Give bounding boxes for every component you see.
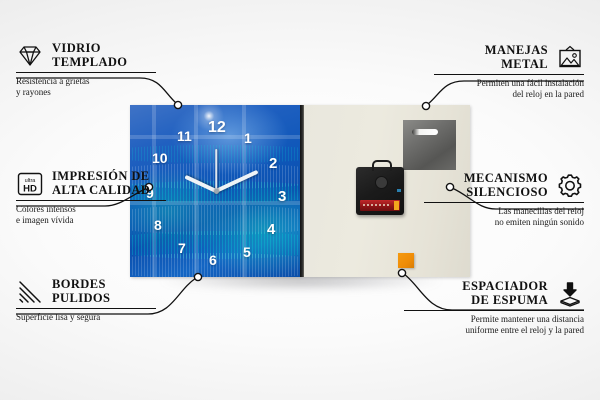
aa-battery: [360, 200, 400, 211]
foam-spacer-square: [398, 253, 414, 268]
clock-numeral: 6: [209, 253, 217, 267]
clock-numeral: 5: [243, 245, 251, 259]
clock-numeral: 7: [178, 241, 186, 255]
callout-title: ESPACIADOR DE ESPUMA: [462, 280, 548, 307]
callout-rule: [434, 74, 584, 75]
diagonal-lines-icon: [16, 279, 44, 305]
callout-rule: [16, 72, 156, 73]
callout-description: Permite mantener una distancia uniforme …: [404, 314, 584, 336]
callout-title: MANEJAS METAL: [485, 44, 548, 71]
callout-header: ultra HD IMPRESIÓN DE ALTA CALIDAD: [16, 170, 176, 197]
callout-vidrio-templado[interactable]: VIDRIO TEMPLADO Resistencia a grietas y …: [16, 42, 166, 98]
clock-center-cap: [214, 189, 219, 194]
callout-title: VIDRIO TEMPLADO: [52, 42, 127, 69]
mechanism-hook-icon: [372, 160, 392, 171]
callout-impresion-alta-calidad[interactable]: ultra HD IMPRESIÓN DE ALTA CALIDAD Color…: [16, 170, 176, 226]
callout-description: Colores intensos e imagen vívida: [16, 204, 176, 226]
callout-description: Resistencia a grietas y rayones: [16, 76, 166, 98]
infographic-canvas: 12 1 2 3 4 5 6 7 8 9 10 11: [0, 0, 600, 400]
mechanism-shaft: [375, 176, 388, 189]
callout-header: BORDES PULIDOS: [16, 278, 166, 305]
clock-numeral: 10: [152, 151, 168, 165]
clock-numeral: 12: [208, 121, 226, 135]
callout-title: BORDES PULIDOS: [52, 278, 110, 305]
diamond-icon: [16, 44, 44, 68]
callout-manejas-metal[interactable]: MANEJAS METAL Permiten una fácil instala…: [434, 44, 584, 100]
svg-text:HD: HD: [23, 183, 37, 194]
gear-icon: [556, 173, 584, 199]
callout-rule: [16, 308, 156, 309]
callout-header: VIDRIO TEMPLADO: [16, 42, 166, 69]
callout-header: MANEJAS METAL: [434, 44, 584, 71]
callout-header: ESPACIADOR DE ESPUMA: [404, 280, 584, 307]
foam-spacer-icon: [556, 281, 584, 307]
picture-frame-icon: [556, 45, 584, 71]
callout-rule: [424, 202, 584, 203]
callout-description: Las manecillas del reloj no emiten ningú…: [424, 206, 584, 228]
callout-description: Superficie lisa y segura: [16, 312, 166, 323]
callout-espaciador-de-espuma[interactable]: ESPACIADOR DE ESPUMA Permite mantener un…: [404, 280, 584, 336]
product-image: 12 1 2 3 4 5 6 7 8 9 10 11: [130, 105, 470, 277]
clock-numeral: 11: [177, 129, 192, 143]
callout-bordes-pulidos[interactable]: BORDES PULIDOS Superficie lisa y segura: [16, 278, 166, 323]
clock-mechanism-box: [356, 167, 404, 215]
clock-second-hand: [215, 149, 217, 191]
callout-mecanismo-silencioso[interactable]: MECANISMO SILENCIOSO Las manecillas del …: [424, 172, 584, 228]
clock-numeral: 3: [278, 190, 286, 204]
battery-label-strip: [363, 204, 391, 206]
glass-edge: [300, 105, 304, 277]
callout-title: IMPRESIÓN DE ALTA CALIDAD: [52, 170, 150, 197]
ultra-hd-icon: ultra HD: [16, 171, 44, 197]
callout-title: MECANISMO SILENCIOSO: [464, 172, 548, 199]
callout-description: Permiten una fácil instalación del reloj…: [434, 78, 584, 100]
callout-header: MECANISMO SILENCIOSO: [424, 172, 584, 199]
callout-rule: [16, 200, 166, 201]
metal-hanger-plate: [403, 120, 456, 170]
clock-numeral: 4: [267, 223, 275, 237]
callout-rule: [404, 310, 584, 311]
hanger-keyhole-slot: [412, 129, 438, 135]
battery-terminal: [394, 201, 399, 210]
clock-numeral: 1: [244, 131, 252, 145]
mechanism-indicator: [397, 189, 401, 192]
clock-numeral: 2: [269, 157, 277, 171]
